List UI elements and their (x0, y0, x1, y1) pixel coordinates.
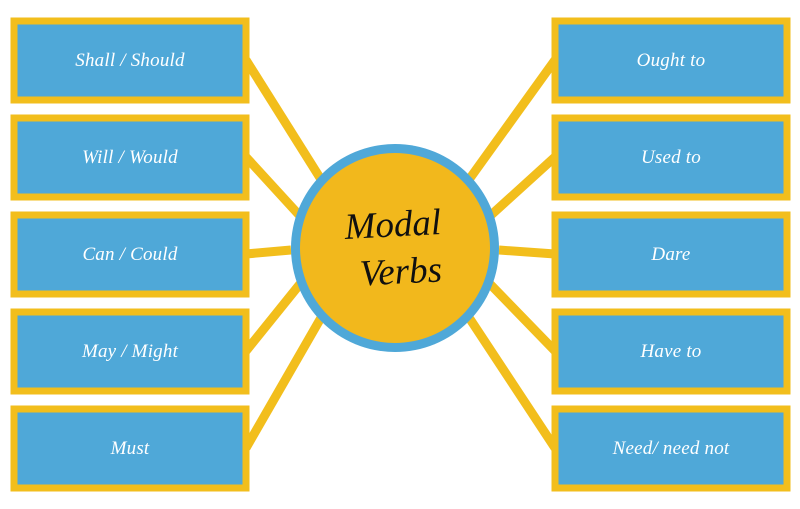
connector-line (490, 284, 555, 351)
connector-line (246, 284, 300, 351)
hub-label-line1: Modal (343, 202, 443, 248)
modal-verbs-diagram: Shall / ShouldWill / WouldCan / CouldMay… (0, 0, 800, 509)
node-box-label: Used to (641, 147, 701, 168)
node-box-label: Must (110, 438, 150, 459)
connector-line (490, 157, 555, 216)
node-box-label: May / Might (81, 341, 179, 362)
node-box-left-3[interactable]: Can / Could (14, 215, 246, 294)
node-box-label: Need/ need not (612, 438, 730, 459)
node-box-left-1[interactable]: Shall / Should (14, 21, 246, 100)
node-box-right-4[interactable]: Have to (555, 312, 787, 391)
right-node-boxes-group: Ought toUsed toDareHave toNeed/ need not (555, 21, 787, 488)
connector-line (246, 157, 300, 216)
hub-label-line2: Verbs (359, 249, 443, 294)
node-box-label: Dare (650, 244, 690, 265)
node-box-right-5[interactable]: Need/ need not (555, 409, 787, 488)
connector-line (246, 250, 291, 254)
node-box-label: Shall / Should (75, 50, 185, 71)
node-box-right-1[interactable]: Ought to (555, 21, 787, 100)
connector-line (499, 250, 555, 254)
node-box-right-3[interactable]: Dare (555, 215, 787, 294)
node-box-label: Can / Could (82, 244, 177, 265)
node-box-right-2[interactable]: Used to (555, 118, 787, 197)
node-box-left-4[interactable]: May / Might (14, 312, 246, 391)
diagram-canvas: Shall / ShouldWill / WouldCan / CouldMay… (0, 0, 800, 509)
node-box-label: Have to (639, 341, 701, 362)
left-node-boxes-group: Shall / ShouldWill / WouldCan / CouldMay… (14, 21, 246, 488)
node-box-left-5[interactable]: Must (14, 409, 246, 488)
node-box-label: Ought to (637, 50, 706, 71)
central-hub-group[interactable]: Modal Verbs (291, 144, 499, 352)
node-box-label: Will / Would (82, 147, 178, 168)
hub-fill-circle (300, 153, 490, 343)
node-box-left-2[interactable]: Will / Would (14, 118, 246, 197)
